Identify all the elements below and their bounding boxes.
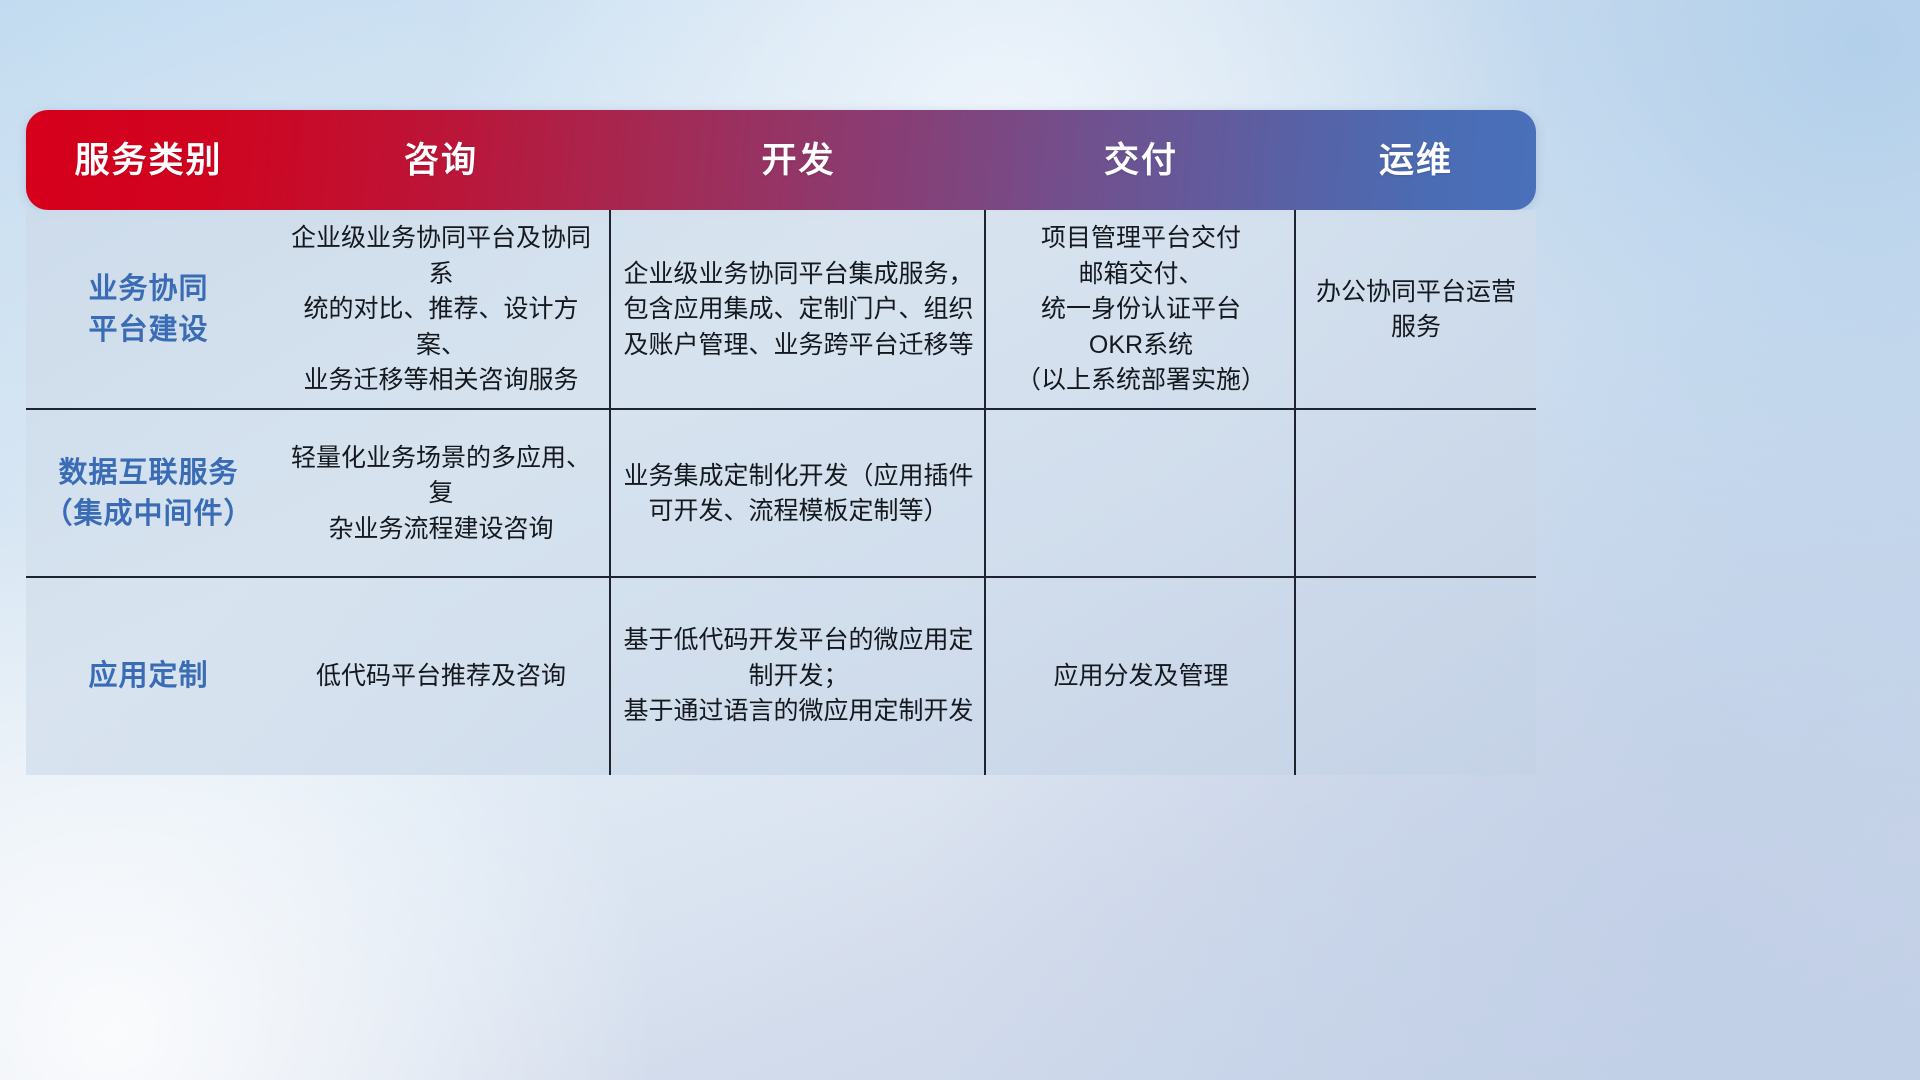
cell-text: 项目管理平台交付 邮箱交付、 统一身份认证平台 OKR系统 （以上系统部署实施） (1016, 221, 1266, 399)
cell-text: 低代码平台推荐及咨询 (316, 659, 566, 695)
cell-consulting: 企业级业务协同平台及协同系 统的对比、推荐、设计方案、 业务迁移等相关咨询服务 (271, 210, 611, 410)
cell-consulting: 低代码平台推荐及咨询 (271, 578, 611, 775)
row-label-cell: 应用定制 (26, 578, 271, 775)
cell-text: 业务集成定制化开发（应用插件 可开发、流程模板定制等） (623, 459, 973, 530)
row-label-cell: 业务协同 平台建设 (26, 210, 271, 410)
cell-delivery: 应用分发及管理 (986, 578, 1296, 775)
cell-text: 应用分发及管理 (1053, 659, 1228, 695)
cell-delivery (986, 410, 1296, 578)
cell-development: 业务集成定制化开发（应用插件 可开发、流程模板定制等） (611, 410, 986, 578)
column-header-development: 开发 (611, 143, 986, 178)
column-header-delivery: 交付 (986, 143, 1296, 178)
cell-text: 企业级业务协同平台及协同系 统的对比、推荐、设计方案、 业务迁移等相关咨询服务 (283, 221, 599, 399)
column-header-category: 服务类别 (26, 143, 271, 178)
table-row: 应用定制 低代码平台推荐及咨询 基于低代码开发平台的微应用定 制开发； 基于通过… (26, 578, 1536, 775)
table-row: 数据互联服务 （集成中间件） 轻量化业务场景的多应用、复 杂业务流程建设咨询 业… (26, 410, 1536, 578)
row-label-text: 数据互联服务 （集成中间件） (43, 453, 253, 535)
cell-text: 基于低代码开发平台的微应用定 制开发； 基于通过语言的微应用定制开发 (623, 623, 973, 730)
table-body: 业务协同 平台建设 企业级业务协同平台及协同系 统的对比、推荐、设计方案、 业务… (26, 210, 1536, 775)
cell-operations (1296, 410, 1536, 578)
service-matrix-table: 服务类别 咨询 开发 交付 运维 业务协同 平台建设 企业级业务协同平台及协同系… (26, 110, 1536, 775)
cell-text: 办公协同平台运营服务 (1308, 275, 1524, 346)
cell-operations: 办公协同平台运营服务 (1296, 210, 1536, 410)
column-header-consulting: 咨询 (271, 143, 611, 178)
table-header-row: 服务类别 咨询 开发 交付 运维 (26, 110, 1536, 210)
table-row: 业务协同 平台建设 企业级业务协同平台及协同系 统的对比、推荐、设计方案、 业务… (26, 210, 1536, 410)
row-label-cell: 数据互联服务 （集成中间件） (26, 410, 271, 578)
row-label-text: 应用定制 (88, 656, 208, 697)
row-label-text: 业务协同 平台建设 (88, 269, 208, 351)
cell-text: 轻量化业务场景的多应用、复 杂业务流程建设咨询 (283, 441, 599, 548)
cell-development: 企业级业务协同平台集成服务， 包含应用集成、定制门户、组织 及账户管理、业务跨平… (611, 210, 986, 410)
cell-text: 企业级业务协同平台集成服务， 包含应用集成、定制门户、组织 及账户管理、业务跨平… (623, 257, 973, 364)
cell-operations (1296, 578, 1536, 775)
cell-consulting: 轻量化业务场景的多应用、复 杂业务流程建设咨询 (271, 410, 611, 578)
cell-delivery: 项目管理平台交付 邮箱交付、 统一身份认证平台 OKR系统 （以上系统部署实施） (986, 210, 1296, 410)
cell-development: 基于低代码开发平台的微应用定 制开发； 基于通过语言的微应用定制开发 (611, 578, 986, 775)
column-header-operations: 运维 (1296, 143, 1536, 178)
